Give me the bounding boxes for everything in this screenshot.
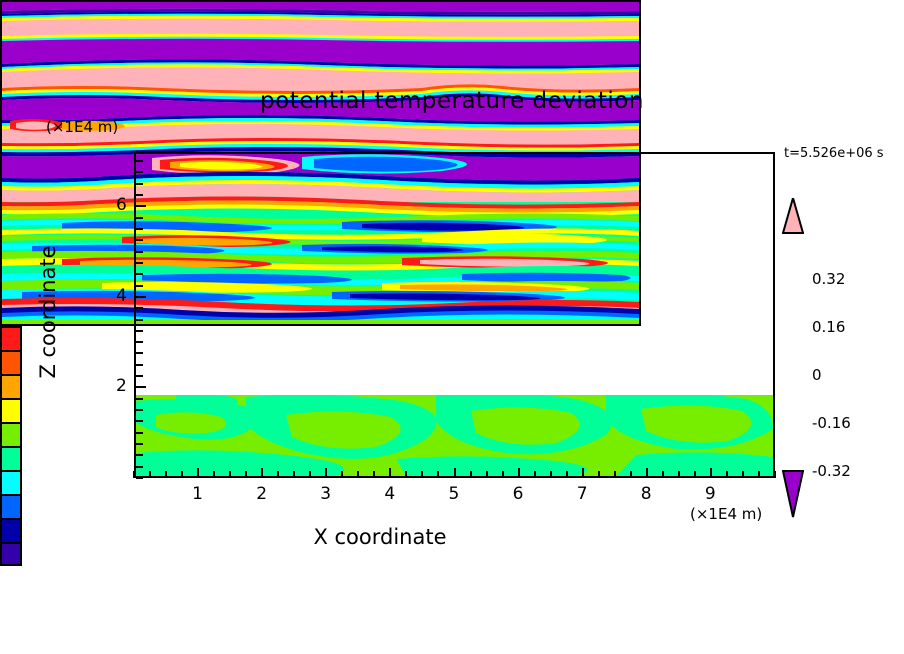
- colorbar-bottom-arrow: [782, 470, 804, 518]
- y-axis-unit-label: (×1E4 m): [46, 118, 118, 136]
- convective-plumes: [136, 395, 773, 476]
- x-tick-minor: [534, 471, 536, 478]
- x-tick-minor: [229, 471, 231, 478]
- colorbar-band: [2, 448, 20, 472]
- y-tick-minor: [136, 443, 143, 445]
- y-tick-major: [136, 386, 146, 388]
- time-annotation: t=5.526e+06 s: [784, 146, 884, 161]
- x-tick-minor: [421, 471, 423, 478]
- x-tick-major: [454, 468, 456, 478]
- x-tick-minor: [486, 471, 488, 478]
- y-tick-minor: [136, 398, 143, 400]
- x-tick-minor: [277, 471, 279, 478]
- x-tick-minor: [694, 471, 696, 478]
- y-tick-minor: [136, 217, 143, 219]
- y-tick-minor: [136, 341, 143, 343]
- y-tick-minor: [136, 239, 143, 241]
- y-tick-minor: [136, 228, 143, 230]
- y-axis-title: Z coordinate: [36, 202, 60, 422]
- x-tick-major: [518, 468, 520, 478]
- colorbar-band: [2, 496, 20, 520]
- y-tick-minor: [136, 262, 143, 264]
- x-tick-minor: [614, 471, 616, 478]
- y-tick-major: [136, 296, 146, 298]
- x-tick-minor: [726, 471, 728, 478]
- x-tick-minor: [758, 471, 760, 478]
- x-tick-label: 5: [449, 484, 460, 504]
- colorbar-tick-label: 0.16: [812, 318, 845, 336]
- x-tick-minor: [309, 471, 311, 478]
- colorbar-tick-label: 0.32: [812, 270, 845, 288]
- x-tick-minor: [566, 471, 568, 478]
- x-tick-major: [389, 468, 391, 478]
- x-axis: 123456789: [134, 478, 775, 528]
- colorbar-band: [2, 376, 20, 400]
- colorbar-tick-label: -0.32: [812, 462, 851, 480]
- colorbar-band: [2, 328, 20, 352]
- x-tick-major: [325, 468, 327, 478]
- x-tick-major: [710, 468, 712, 478]
- x-tick-minor: [470, 471, 472, 478]
- x-tick-minor: [373, 471, 375, 478]
- y-tick-minor: [136, 273, 143, 275]
- y-tick-minor: [136, 330, 143, 332]
- y-tick-minor: [136, 466, 143, 468]
- x-tick-minor: [774, 471, 776, 478]
- colorbar-band: [2, 400, 20, 424]
- x-tick-minor: [678, 471, 680, 478]
- y-tick-minor: [136, 171, 143, 173]
- y-tick-minor: [136, 432, 143, 434]
- colorbar-tick-label: -0.16: [812, 414, 851, 432]
- convective-zone-layer: [136, 395, 773, 476]
- x-tick-minor: [662, 471, 664, 478]
- y-tick-label: 4: [116, 286, 127, 306]
- y-tick-minor: [136, 352, 143, 354]
- x-tick-minor: [502, 471, 504, 478]
- x-tick-minor: [341, 471, 343, 478]
- x-tick-minor: [742, 471, 744, 478]
- y-tick-minor: [136, 307, 143, 309]
- y-tick-minor: [136, 477, 143, 479]
- x-tick-label: 3: [320, 484, 331, 504]
- x-tick-minor: [598, 471, 600, 478]
- y-tick-minor: [136, 364, 143, 366]
- y-tick-minor: [136, 319, 143, 321]
- x-tick-label: 6: [513, 484, 524, 504]
- x-tick-minor: [165, 471, 167, 478]
- x-tick-label: 9: [705, 484, 716, 504]
- y-tick-minor: [136, 454, 143, 456]
- x-tick-minor: [245, 471, 247, 478]
- x-axis-title: X coordinate: [0, 525, 760, 549]
- x-tick-minor: [550, 471, 552, 478]
- y-tick-minor: [136, 251, 143, 253]
- x-tick-major: [197, 468, 199, 478]
- x-tick-label: 8: [641, 484, 652, 504]
- x-tick-minor: [149, 471, 151, 478]
- y-tick-label: 6: [116, 195, 127, 215]
- x-axis-unit-label: (×1E4 m): [690, 505, 762, 523]
- y-tick-minor: [136, 160, 143, 162]
- x-tick-minor: [357, 471, 359, 478]
- x-tick-minor: [437, 471, 439, 478]
- colorbar-tick-label: 0: [812, 366, 822, 384]
- page-title: potential temperature deviation: [0, 88, 904, 114]
- x-tick-major: [646, 468, 648, 478]
- x-tick-label: 4: [384, 484, 395, 504]
- y-tick-label: 2: [116, 376, 127, 396]
- x-tick-label: 2: [256, 484, 267, 504]
- colorbar-band: [2, 472, 20, 496]
- y-axis: 246: [96, 152, 136, 478]
- y-tick-minor: [136, 194, 143, 196]
- x-tick-minor: [293, 471, 295, 478]
- y-tick-minor: [136, 375, 143, 377]
- y-tick-major: [136, 205, 146, 207]
- y-tick-minor: [136, 409, 143, 411]
- x-tick-label: 7: [577, 484, 588, 504]
- x-tick-major: [582, 468, 584, 478]
- y-tick-minor: [136, 420, 143, 422]
- colorbar-band: [2, 424, 20, 448]
- y-tick-minor: [136, 285, 143, 287]
- x-tick-minor: [213, 471, 215, 478]
- x-tick-minor: [181, 471, 183, 478]
- colorbar-band: [2, 352, 20, 376]
- x-tick-minor: [630, 471, 632, 478]
- x-tick-major: [261, 468, 263, 478]
- x-tick-minor: [405, 471, 407, 478]
- x-tick-label: 1: [192, 484, 203, 504]
- colorbar-top-arrow: [782, 198, 804, 234]
- y-tick-minor: [136, 183, 143, 185]
